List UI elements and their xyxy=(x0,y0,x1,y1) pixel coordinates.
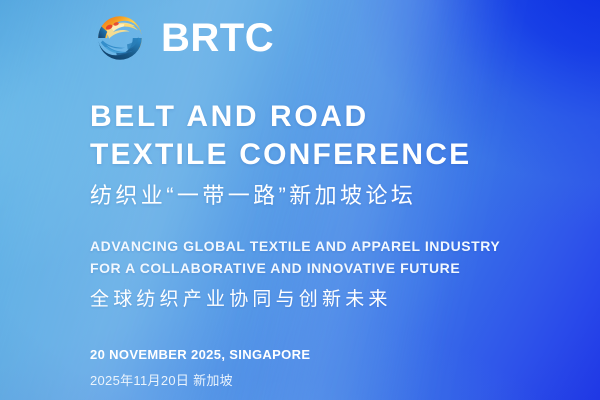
conference-banner: BRTC BELT AND ROAD TEXTILE CONFERENCE 纺织… xyxy=(0,0,600,400)
title-chinese: 纺织业“一带一路”新加坡论坛 xyxy=(90,181,416,211)
main-title: BELT AND ROAD TEXTILE CONFERENCE xyxy=(90,98,471,174)
tagline-line-2: FOR A COLLABORATIVE AND INNOVATIVE FUTUR… xyxy=(90,257,500,279)
tagline-chinese: 全球纺织产业协同与创新未来 xyxy=(90,286,392,314)
tagline-line-1: ADVANCING GLOBAL TEXTILE AND APPAREL IND… xyxy=(90,235,500,257)
tagline: ADVANCING GLOBAL TEXTILE AND APPAREL IND… xyxy=(90,235,500,279)
title-line-1: BELT AND ROAD xyxy=(90,98,471,136)
event-date-location-english: 20 NOVEMBER 2025, SINGAPORE xyxy=(90,345,310,365)
brtc-wordmark: BRTC xyxy=(161,18,274,58)
banner-content: BRTC BELT AND ROAD TEXTILE CONFERENCE 纺织… xyxy=(0,0,600,400)
brtc-circular-wave-emblem-icon xyxy=(88,6,152,70)
brand-lockup: BRTC xyxy=(88,6,274,70)
title-line-2: TEXTILE CONFERENCE xyxy=(90,136,471,174)
event-date-location-chinese: 2025年11月20日 新加坡 xyxy=(90,371,310,391)
event-details: 20 NOVEMBER 2025, SINGAPORE 2025年11月20日 … xyxy=(90,345,310,391)
